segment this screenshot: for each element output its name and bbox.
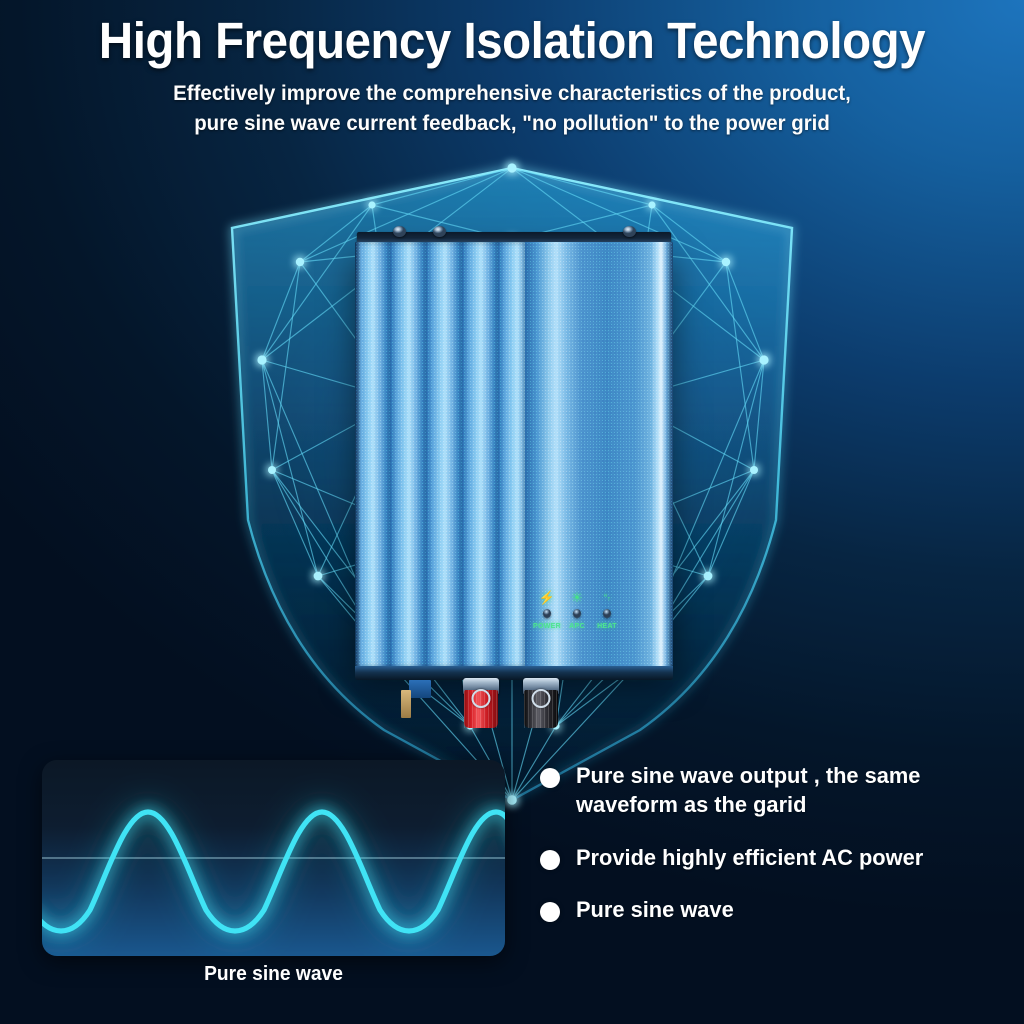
terminal-ring-icon [532,689,551,708]
bullet-dot-icon [540,902,560,922]
led-lamp [603,609,611,618]
subtitle: Effectively improve the comprehensive ch… [26,78,999,139]
positive-terminal [463,678,499,728]
led-lamp [573,609,581,618]
device-body: ⚡ POWER ☀ APC ␉ HEAT [355,242,673,667]
led-label-power: POWER [533,623,561,630]
sun-burst-icon: ☀ [563,590,591,606]
led-label-heat: HEAT [593,623,621,630]
power-plug-icon: ⚡ [533,590,561,606]
connector-housing [409,680,431,698]
list-item: Provide highly efficient AC power [540,844,1010,873]
header: High Frequency Isolation Technology Effe… [0,0,1024,139]
heatsink-fins [355,242,527,667]
screw-icon [433,226,446,237]
subtitle-line-1: Effectively improve the comprehensive ch… [173,81,851,105]
bullet-dot-icon [540,768,560,788]
led-group-power: ⚡ POWER [533,590,561,630]
led-lamp [543,609,551,618]
list-item: Pure sine wave output , the same wavefor… [540,762,1010,820]
feature-text: Pure sine wave [576,896,734,925]
page-title: High Frequency Isolation Technology [36,0,988,68]
terminal-ring-icon [472,689,491,708]
sine-wave-line [42,812,505,931]
sine-wave-chart [42,760,505,956]
led-label-apc: APC [563,623,591,630]
product-infographic: High Frequency Isolation Technology Effe… [0,0,1024,1024]
feature-text: Provide highly efficient AC power [576,844,923,873]
feature-text: Pure sine wave output , the same wavefor… [576,762,997,820]
screw-icon [393,226,406,237]
waveform-card [42,760,505,956]
list-item: Pure sine wave [540,896,1010,925]
signal-connector [401,680,431,718]
screw-icon [623,226,636,237]
bullet-dot-icon [540,850,560,870]
thermometer-icon: ␉ [593,590,621,606]
led-group-apc: ☀ APC [563,590,591,630]
power-inverter-device: ⚡ POWER ☀ APC ␉ HEAT [355,232,673,680]
led-indicator-cluster: ⚡ POWER ☀ APC ␉ HEAT [533,590,621,652]
device-left-bevel [355,242,365,667]
led-group-heat: ␉ HEAT [593,590,621,630]
feature-list: Pure sine wave output , the same wavefor… [540,762,1010,949]
waveform-caption: Pure sine wave [51,963,495,986]
connector-pin [401,690,411,718]
device-right-bevel [651,242,673,667]
subtitle-line-2: pure sine wave current feedback, "no pol… [194,111,830,135]
negative-terminal [523,678,559,728]
terminal-row [355,678,673,740]
